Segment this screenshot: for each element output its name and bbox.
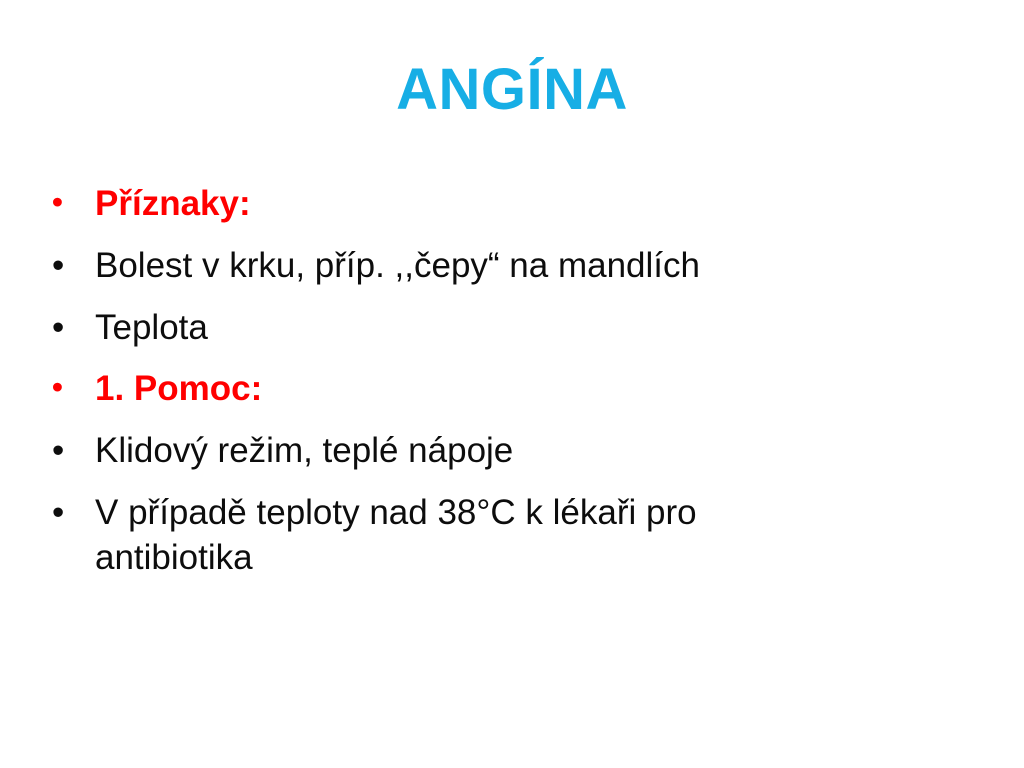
list-item: • Teplota [52, 306, 842, 351]
list-item: • 1. Pomoc: [52, 367, 842, 412]
list-item-label: V případě teploty nad 38°C k lékaři pro … [95, 491, 842, 581]
list-item: • Bolest v krku, příp. ,,čepy“ na mandlí… [52, 244, 842, 289]
bullet-icon: • [52, 429, 95, 474]
bullet-icon: • [52, 367, 95, 407]
slide-canvas: ANGÍNA • Příznaky: • Bolest v krku, příp… [0, 0, 1024, 768]
bullet-icon: • [52, 182, 95, 222]
list-item: • Příznaky: [52, 182, 842, 227]
list-item: • V případě teploty nad 38°C k lékaři pr… [52, 491, 842, 581]
bullet-icon: • [52, 244, 95, 289]
list-item-label: Příznaky: [95, 182, 842, 227]
bullet-list: • Příznaky: • Bolest v krku, příp. ,,čep… [52, 182, 842, 581]
bullet-icon: • [52, 491, 95, 536]
bullet-icon: • [52, 306, 95, 351]
list-item: • Klidový režim, teplé nápoje [52, 429, 842, 474]
list-item-label: 1. Pomoc: [95, 367, 842, 412]
page-title: ANGÍNA [0, 58, 1024, 122]
list-item-label: Klidový režim, teplé nápoje [95, 429, 842, 474]
list-item-label: Teplota [95, 306, 842, 351]
list-item-label: Bolest v krku, příp. ,,čepy“ na mandlích [95, 244, 842, 289]
